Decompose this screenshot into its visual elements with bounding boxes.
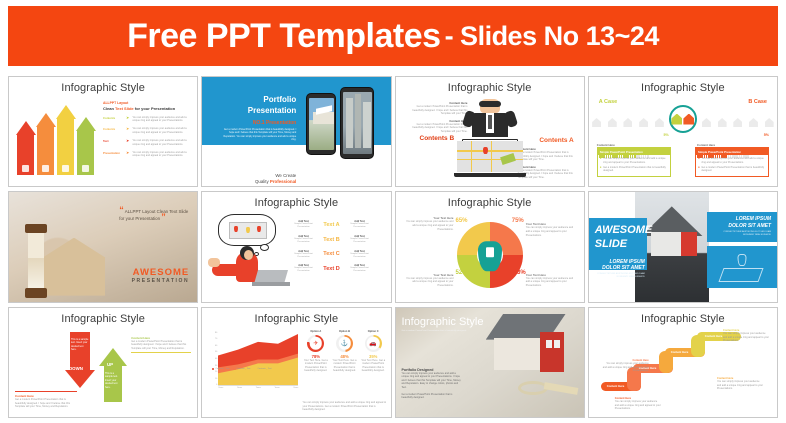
down-label: DOWN <box>69 366 83 371</box>
list-item: Contents ➤ You can simply impress your a… <box>103 127 191 134</box>
step-label-1: Content Here <box>607 384 625 388</box>
slide-title: Infographic Style <box>202 197 390 209</box>
slide-title: Infographic Style <box>9 313 197 325</box>
lorem-panel-bottom-left: LOREM IPSUM DOLOR SIT AMET CONSECTETUER … <box>591 259 645 280</box>
ship-icon: ⚓ <box>341 340 348 347</box>
area-chart: 80 70 60 50 40 30 20 10 0 <box>210 332 298 394</box>
chart-legend: Contents _ Text Contents _ Text Contents… <box>212 368 271 370</box>
map-panel-bottom-right <box>707 246 777 288</box>
slide-title: Infographic Style <box>402 316 484 328</box>
x-axis-ticks: Years Years Years Years Years <box>218 387 298 389</box>
house-key-photo <box>518 371 578 405</box>
portfolio-footer: We Create Quality Professional PPT Prese… <box>220 173 296 187</box>
quote-open-icon: “ <box>119 205 124 215</box>
legend-item-top-left: Your Text Here You can simply impress yo… <box>402 216 454 231</box>
up-arrow-graphic: UP This is a sample text. Insert your de… <box>99 348 127 402</box>
down-arrow-graphic: This is a sample text. Insert your desir… <box>65 332 95 388</box>
legend-item-top-right: Your Text Here You can simply impress yo… <box>526 222 578 237</box>
slide-thumbnail-12[interactable]: Infographic Style Content Here Content H… <box>588 307 778 418</box>
lorem-panel-top-right: LOREM IPSUM DOLOR SIT AMET CONSECTETUER … <box>707 212 777 242</box>
map-outline-icon <box>718 268 763 282</box>
option-donuts: Option A ✈ 78% Your Text Here. Get a mod… <box>303 330 387 373</box>
portfolio-highlight: NO.1 Presentation <box>220 120 296 126</box>
slide-thumbnail-1[interactable]: Infographic Style ALLPPT Layout Clean Te… <box>8 76 198 187</box>
quote-text: ALLPPT Layout Clean Text Slide for your … <box>119 209 188 221</box>
kicker-text: ALLPPT Layout <box>103 101 191 105</box>
case-b-label: B Case <box>748 99 767 105</box>
step-caption-3: Content Here You can simply impress your… <box>717 377 763 391</box>
contents-b-label: Contents B <box>420 135 455 142</box>
row-label: Text B <box>319 237 345 243</box>
quote-close-icon: ” <box>161 212 166 222</box>
slide-title: Infographic Style <box>396 82 584 94</box>
slide-title: Infographic Style <box>589 82 777 94</box>
up-label: UP <box>107 362 113 367</box>
plot-area <box>218 332 298 386</box>
slide-thumbnail-4[interactable]: Infographic Style A Case B Case <box>588 76 778 187</box>
list-item: Add TextSimple PowerPoint Presentation T… <box>289 250 387 259</box>
slide-thumbnail-2[interactable]: Portfolio Presentation NO.1 Presentation… <box>201 76 391 187</box>
legend-entry: Contents _ Text <box>212 368 229 370</box>
chevron-right-icon: ➤ <box>126 151 129 155</box>
option-c: Option C 🚗 35% Your Text Here. Get a mod… <box>360 330 387 373</box>
percent-label-bottom-right: 43% <box>514 270 526 276</box>
subtitle-text: Clean Text Slide for your Presentation <box>103 106 191 111</box>
list-item: Text ➤ You can simply impress your audie… <box>103 139 191 146</box>
hourglass-photo <box>25 224 47 298</box>
awesome-label: AWESOME <box>132 267 190 278</box>
text-rows-list: Add TextSimple PowerPoint Presentation T… <box>289 220 387 279</box>
house-icon-b <box>683 114 694 125</box>
case-a-label: A Case <box>599 99 617 105</box>
thought-bubble <box>218 214 276 246</box>
slide-subtitle: Get a modern PowerPoint Presentation tha… <box>402 330 512 333</box>
legend-item-bottom-left: Your Text Here You can simply impress yo… <box>402 273 454 288</box>
legend-entry: Contents _ Text <box>233 368 250 370</box>
slide-title: Infographic Style <box>9 82 197 94</box>
chevron-right-icon: ➤ <box>126 139 129 143</box>
laptop-map-illustration <box>454 139 526 177</box>
model-house-photo <box>486 314 566 372</box>
list-item: Presentation ➤ You can simply impress yo… <box>103 151 191 158</box>
list-item: Add TextSimple PowerPoint Presentation T… <box>289 264 387 273</box>
arrow-chart-graphic <box>17 107 97 175</box>
plane-icon: ✈ <box>313 340 318 347</box>
phone-mockup-left <box>306 93 336 155</box>
portfolio-body: Get a modern PowerPoint Presentation tha… <box>220 128 296 142</box>
slide-thumbnail-9[interactable]: Infographic Style This is a sample text.… <box>8 307 198 418</box>
map-pin-icon <box>738 254 747 266</box>
legend-item-bottom-right: Your Text Here You can simply impress yo… <box>526 273 578 288</box>
slide-thumbnail-7[interactable]: Infographic Style Your Text Here You can… <box>395 191 585 302</box>
woman-laptop-illustration <box>208 246 294 298</box>
step-caption-1: Content Here You can simply impress your… <box>615 397 661 411</box>
legend-entry: Contents _ Text <box>254 368 271 370</box>
house-icon-a <box>671 114 682 125</box>
info-box-left: Simple PowerPoint Presentation ●You can … <box>597 147 671 177</box>
area-series <box>218 332 298 385</box>
phone-mockup-right <box>340 87 374 159</box>
step-caption-4: Content Here You can simply impress your… <box>723 329 769 343</box>
presentation-label: PRESENTATION <box>132 278 190 284</box>
slide-thumbnail-11[interactable]: Infographic Style Get a modern PowerPoin… <box>395 307 585 418</box>
slide-heading: SLIDE <box>589 238 647 251</box>
step-label-3: Content Here <box>671 350 689 354</box>
portfolio-designed-block: Portfolio Designed You can simply impres… <box>402 368 464 400</box>
slide-title: Infographic Style <box>396 197 584 209</box>
quote-block: “ ALLPPT Layout Clean Text Slide for you… <box>119 208 189 222</box>
percent-label-top-right: 75% <box>512 218 524 224</box>
slide-title: Infographic Style <box>202 313 390 325</box>
step-label-4: Content Here <box>705 334 723 338</box>
portfolio-heading-1: Portfolio <box>220 95 296 106</box>
portfolio-text-block: Portfolio Presentation NO.1 Presentation… <box>220 95 296 142</box>
banner-title: Free PPT Templates <box>127 17 441 56</box>
highlight-circle <box>669 105 697 133</box>
slide-thumbnail-10[interactable]: Infographic Style 80 70 60 50 40 30 20 1… <box>201 307 391 418</box>
option-a: Option A ✈ 78% Your Text Here. Get a mod… <box>303 330 330 373</box>
awesome-heading: AWESOME <box>589 218 647 237</box>
slide-thumbnail-grid: Infographic Style ALLPPT Layout Clean Te… <box>8 76 778 418</box>
option-b: Option B ⚓ 48% Your Text Here. Get a mod… <box>331 330 358 373</box>
slide-thumbnail-5[interactable]: “ ALLPPT Layout Clean Text Slide for you… <box>8 191 198 302</box>
content-block-left: Content Here Get a modern PowerPoint Pre… <box>15 391 77 409</box>
awesome-presentation-block: AWESOME PRESENTATION <box>132 267 190 284</box>
row-label: Text C <box>319 251 345 257</box>
donut-chart <box>457 222 523 288</box>
slide-thumbnail-3[interactable]: Infographic Style Content Here Get a mod… <box>395 76 585 187</box>
row-label: Text A <box>319 222 345 228</box>
page-banner: Free PPT Templates - Slides No 13~24 <box>8 6 778 66</box>
step-caption-2: Content Here You can simply impress your… <box>603 359 649 373</box>
contents-a-text-block: Content Here Get a modern PowerPoint Pre… <box>518 147 576 180</box>
car-icon: 🚗 <box>369 340 376 347</box>
banner-subtitle: - Slides No 13~24 <box>445 21 659 52</box>
contents-a-label: Contents A <box>539 137 573 144</box>
slide-thumbnail-8[interactable]: AWESOME SLIDE LOREM IPSUM DOLOR SIT AMET… <box>588 191 778 302</box>
chevron-right-icon: ➤ <box>126 127 129 131</box>
arrow-text-block: ALLPPT Layout Clean Text Slide for your … <box>103 101 191 158</box>
row-label: Text D <box>319 266 345 272</box>
info-box-right: Simple PowerPoint Presentation ●You can … <box>695 147 769 177</box>
chart-note: You can simply impress your audience and… <box>303 401 387 412</box>
document-pin-icon <box>478 242 502 272</box>
map-thumbnail-icon <box>229 222 267 239</box>
percent-label-bottom-left: 52% <box>456 270 468 276</box>
list-item: Contents ➤ You can simply impress your a… <box>103 116 191 123</box>
y-axis-ticks: 80 70 60 50 40 30 20 10 0 <box>210 332 217 386</box>
list-item: Add TextSimple PowerPoint Presentation T… <box>289 235 387 244</box>
slide-thumbnail-6[interactable]: Infographic Style <box>201 191 391 302</box>
page-root: Free PPT Templates - Slides No 13~24 Inf… <box>0 0 786 423</box>
chevron-right-icon: ➤ <box>126 116 129 120</box>
portfolio-heading-2: Presentation <box>220 106 296 117</box>
percent-label-top-left: 65% <box>456 218 468 224</box>
list-item: Add TextSimple PowerPoint Presentation T… <box>289 220 387 229</box>
staircase-graphic: Content Here Content Here Content Here C… <box>589 308 777 417</box>
content-block-right: Content Here Get a modern PowerPoint Pre… <box>131 336 191 356</box>
